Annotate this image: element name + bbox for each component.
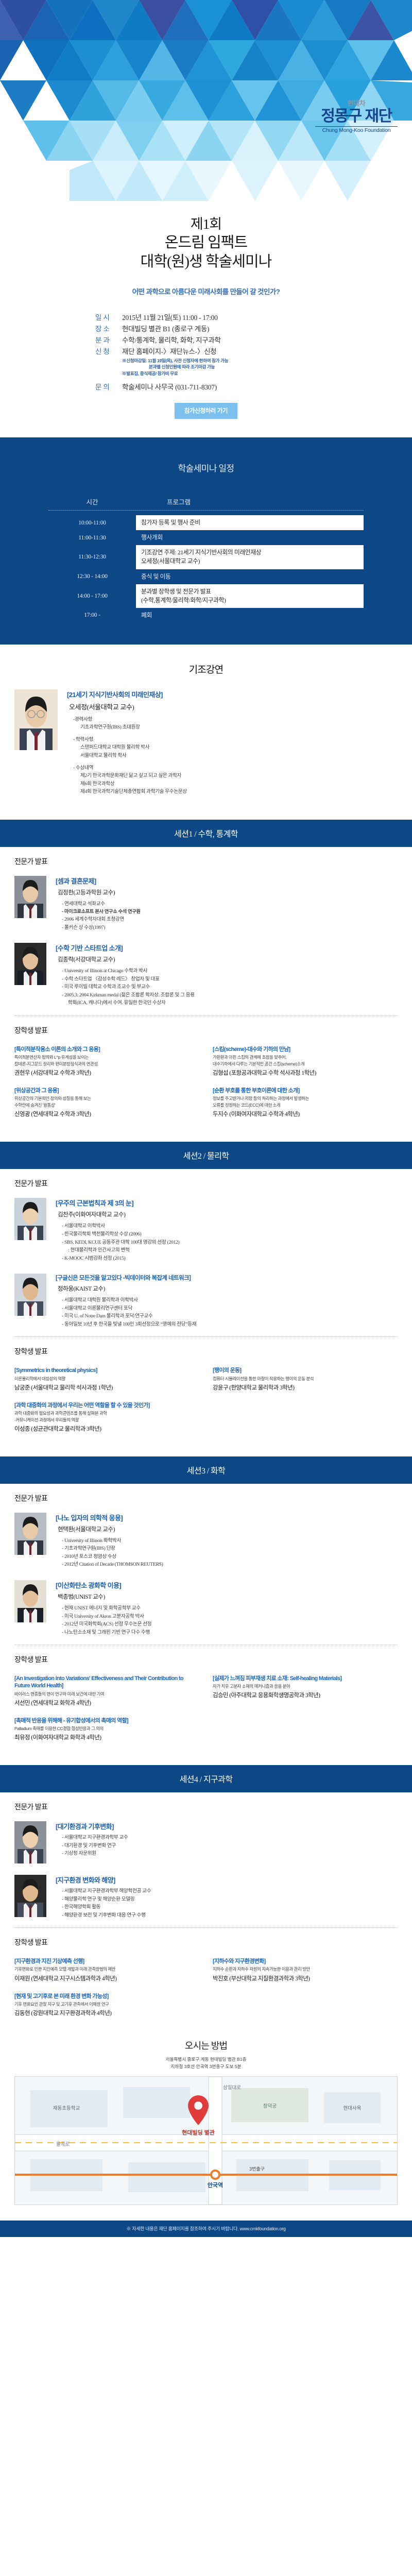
expert-speaker-photo (14, 1875, 46, 1917)
keynote-bio-heading: - 수상내역 (73, 764, 398, 772)
title-line-2: 온드림 임팩트 (0, 233, 412, 252)
expert-topic: [지구환경 변화와 해양] (56, 1875, 398, 1885)
expert-speaker-photo (14, 1580, 46, 1622)
expert-speaker-name: 백종범(UNIST 교수) (56, 1592, 398, 1601)
schedule-program: 폐회 (136, 608, 364, 623)
talk-card (213, 1717, 398, 1741)
portrait-placeholder-icon (14, 1198, 46, 1240)
expert-bio-item: - 나노탄소소재 및 그래핀 기반 연구 다수 수행 (62, 1629, 398, 1637)
talk-row: [특이적분작용소 이론의 소개와 그 응용]특이적분연산자 정의와 L^p 유계… (14, 1046, 398, 1077)
expert-speaker-photo (14, 1513, 46, 1555)
info-label-date: 일시 (95, 312, 122, 322)
schedule-row: 11:00-11:30행사개회 (48, 530, 364, 545)
talk-card: [촉매적 반응을 위해해 - 유기합성에서의 촉매의 역할]Palladium … (14, 1717, 199, 1741)
expert-bio-item: - 2012년 미국화학회(ACS) 선정 우수논문 선정 (62, 1620, 398, 1629)
talk-author: 김형섭 (포항공과대학교 수학 석사과정 1학년) (213, 1069, 398, 1077)
foundation-logo: 현대차 정몽구 재단 Chung Mong-Koo Foundation (315, 98, 398, 133)
info-row-tracks: 분과 수학/통계학, 물리학, 화학, 지구과학 (95, 334, 317, 345)
talk-card: [실제가 느껴짐 피부재생 치료 소재: Self-healing Materi… (213, 1675, 398, 1707)
schedule-table-header: 시간 프로그램 (48, 497, 364, 506)
expert-speaker: [지구환경 변화와 해양]- 서울대학교 지구환경과학부 해양학전공 교수- 해… (0, 1875, 412, 1919)
schedule-time: 14:00 - 17:00 (48, 584, 136, 608)
info-value-venue: 현대빌딩 별관 B1 (종로구 계동) (122, 323, 209, 333)
talk-description: 가환환과 아핀 스킴의 관계에 초점을 맞추어,대수기하에서 다루는 기본적인 … (213, 1054, 398, 1067)
talk-title: [지하수와 지구환경변화] (213, 1958, 398, 1965)
talk-card: [순환 부호를 통한 부호이론에 대한 소개]정보를 주고받거나 저장 등의 처… (213, 1087, 398, 1118)
keynote-bio-item: 스탠퍼드대학교 대학원 물리학 박사 (73, 743, 398, 752)
keynote-bio-group: -경력사항기초과학연구원(IBS) 초대원장 (67, 716, 398, 732)
talk-description: 기후변화로 인한 지진예측 모델 개발과 미래 관측방법의 제안 (14, 1966, 199, 1973)
expert-bio-item: - 기상청 자문위원 (62, 1850, 398, 1858)
expert-bio-item: - 연세대학교 석좌교수 (62, 900, 398, 908)
talk-title: [지구환경과 지진 기상예측 선행] (14, 1958, 199, 1965)
expert-speaker-name: 김정한(고등과학원 교수) (56, 888, 398, 896)
location-map[interactable]: 현대빌딩 별관 안국역 3번출구 율곡로 삼일대로 재동초등학교 현대사옥 창덕… (14, 2076, 398, 2205)
talk-author: 서선민 (연세대학교 화학과 4학년) (14, 1699, 199, 1707)
session-banner: 세션4 / 지구과학 (0, 1765, 412, 1792)
expert-speaker-name: 현택환(서울대학교 교수) (56, 1525, 398, 1533)
keynote-speaker-photo (14, 689, 58, 750)
expert-bio-list: - 서울대학교 지구환경과학부 해양학전공 교수- 해양물리학 연구 및 해양순… (56, 1887, 398, 1919)
talk-card: [An Investigation into Variations' Effec… (14, 1675, 199, 1707)
expert-topic: [구글신은 모든것을 알고있다 -빅데이터와 복잡계 네트워크] (56, 1274, 398, 1282)
portrait-placeholder-icon (14, 1580, 46, 1622)
talk-description: 특이적분연산자 정의와 L^p 유계성을 보이는칼데론-지그문드 정리와 편미분… (14, 1054, 199, 1067)
student-talks: [An Investigation into Variations' Effec… (0, 1667, 412, 1755)
talk-title: [과학 대중화의 과정에서 우리는 어떤 역할을 할 수 있을 것인가] (14, 1402, 199, 1409)
talk-author: 신영광 (연세대학교 수학과 3학년) (14, 1110, 199, 1118)
expert-bio-item: - 서울대학교 지구환경과학부 교수 (62, 1834, 398, 1842)
talk-author: 남궁준 (서울대학교 물리학 석사과정 1학년) (14, 1383, 199, 1392)
expert-bio-item: - 해양환경 보전 및 기후변화 대응 연구 수행 (62, 1911, 398, 1920)
poster-page: 현대차 정몽구 재단 Chung Mong-Koo Foundation 제1회… (0, 0, 412, 2237)
schedule-program: 분과별 장학생 및 전문가 발표(수학,통계학/물리학/화학/지구과학) (136, 584, 364, 608)
keynote-speaker: [21세기 지식기반사회의 미래인재상] 오세정(서울대학교 교수) -경력사항… (0, 689, 412, 796)
schedule-time: 11:30-12:30 (48, 545, 136, 569)
keynote-heading: 기조강연 (0, 662, 412, 676)
keynote-bio-item: 제6회 한국과학상 (73, 780, 398, 788)
expert-bio-item: - 미국 루이빌 대학교 수학과 조교수 및 부교수 (62, 983, 398, 991)
info-value-contact: 학술세미나 사무국 (031-711-8307) (122, 381, 217, 392)
schedule-time: 10:00-11:00 (48, 515, 136, 530)
expert-bio-item: - 대기환경 및 기후변화 연구 (62, 1842, 398, 1850)
portrait-placeholder-icon (14, 1875, 46, 1917)
talk-title: [순환 부호를 통한 부호이론에 대한 소개] (213, 1087, 398, 1094)
talk-title: [Symmetrics in theoretical physics] (14, 1367, 199, 1374)
map-label-place3: 창덕궁 (263, 2104, 277, 2109)
page-title: 제1회 온드림 임팩트 대학(원)생 학술세미나 (0, 206, 412, 272)
talk-card (213, 1402, 398, 1433)
expert-bio-item: - 폴커슨 상 수상(1997) (62, 924, 398, 932)
logo-main-text: 정몽구 재단 (315, 108, 398, 126)
keynote-bio-item: 제2기 한국과학문화재단 닮고 싶고 되고 싶은 과학자 (73, 772, 398, 780)
talk-card: [과학 대중화의 과정에서 우리는 어떤 역할을 할 수 있을 것인가]과학 대… (14, 1402, 199, 1433)
map-label-station: 안국역 (208, 2181, 223, 2189)
note-capacity: 분과별 신청인원에 따라 조기마감 가능 (122, 364, 317, 370)
talk-card: [지구환경과 지진 기상예측 선행]기후변화로 인한 지진예측 모델 개발과 미… (14, 1958, 199, 1982)
schedule-row: 10:00-11:00참가자 등록 및 행사 준비 (48, 515, 364, 530)
talk-card: [팽이의 운동]컴퓨터 시뮬레이션을 통한 마찰이 작용하는 팽이의 운동 분석… (213, 1367, 398, 1391)
map-label-road2: 삼일대로 (223, 2085, 241, 2091)
talk-row: [Symmetrics in theoretical physics]이론물리학… (14, 1367, 398, 1391)
talk-author: 김동현 (강원대학교 지구환경과학과 4학년) (14, 2009, 199, 2017)
map-heading: 오시는 방법 (0, 2039, 412, 2052)
expert-speaker-photo (14, 1198, 46, 1240)
student-presentation-label: 장학생 발표 (0, 1016, 412, 1038)
expert-topic: [대기환경과 기후변화] (56, 1821, 398, 1831)
student-talks: [Symmetrics in theoretical physics]이론물리학… (0, 1359, 412, 1446)
talk-row: [촉매적 반응을 위해해 - 유기합성에서의 촉매의 역할]Palladium … (14, 1717, 398, 1741)
info-label-contact: 문의 (95, 381, 122, 392)
session-block: 세션2 / 물리학전문가 발표[우주의 근본법칙과 제 3의 눈]김찬주(이화여… (0, 1142, 412, 1446)
schedule-time: 12:30 - 14:00 (48, 569, 136, 584)
logo-sub-text: Chung Mong-Koo Foundation (315, 126, 398, 133)
talk-description: 지하수 순환과 지하수 자원의 지속가능한 이용과 관리 방안 (213, 1966, 398, 1973)
info-label-venue: 장소 (95, 323, 122, 333)
expert-speaker-photo (14, 1821, 46, 1863)
hero-banner: 현대차 정몽구 재단 Chung Mong-Koo Foundation (0, 0, 412, 206)
expert-bio-item: - 수학 스타트업 〈감성수학 레드〉 창업자 및 대표 (62, 975, 398, 984)
talk-description: 정보를 주고받거나 저장 등의 처리하는 과정에서 발생하는오류를 정정하는 코… (213, 1095, 398, 1109)
expert-speaker: [이산화탄소 광화학 이용]백종범(UNIST 교수)- 현재 UNIST 에너… (0, 1580, 412, 1636)
logo-top-text: 현대차 (315, 98, 398, 108)
talk-title: [팽이의 운동] (213, 1367, 398, 1374)
schedule-panel: 학술세미나 일정 시간 프로그램 10:00-11:00참가자 등록 및 행사 … (0, 437, 412, 645)
expert-speaker-photo (14, 1274, 46, 1316)
expert-bio-item: - 동아일보 10년 후 한국을 빛낼 100인 3회선정으로 “명예의 전당”… (62, 1320, 398, 1329)
portrait-placeholder-icon (14, 1821, 46, 1863)
student-presentation-label: 장학생 발표 (0, 1337, 412, 1359)
map-address-line-2: 지하철 3호선 안국역 3번출구 도보 5분 (0, 2063, 412, 2071)
talk-author: 김승민 (아주대학교 응용화학생명공학과 3학년) (213, 1691, 398, 1699)
session-banner: 세션1 / 수학, 통계학 (0, 820, 412, 847)
expert-bio-item: - 2006 세계수학자대회 초청강연 (62, 916, 398, 924)
talk-title: [스킴(scheme)-대수와 기하의 만남] (213, 1046, 398, 1053)
expert-bio-item: - University of Illinois 화학박사 (62, 1537, 398, 1545)
talk-row: [과학 대중화의 과정에서 우리는 어떤 역할을 할 수 있을 것인가]과학 대… (14, 1402, 398, 1433)
keynote-bio-group: - 수상내역제2기 한국과학문화재단 닮고 싶고 되고 싶은 과학자제6회 한국… (67, 764, 398, 796)
expert-bio-item: : 현대물리학과 인간사고의 변혁 (62, 1246, 398, 1255)
talk-row: [현재 및 고기후로 본 미래 환경 변화 가능성]기후 변화요인 관찰 지구 … (14, 1993, 398, 2017)
keynote-bio-item: 기초과학연구원(IBS) 초대원장 (73, 723, 398, 732)
keynote-section: 기조강연 [21세기 지식기반사회의 미래인재상] 오세정(서울대학교 교수) (0, 645, 412, 809)
expert-bio-item: - K-MOOC 시범강좌 선정 (2015) (62, 1255, 398, 1263)
talk-author: 두지수 (이화여자대학교 수학과 4학년) (213, 1110, 398, 1118)
keynote-bio-item: 제4회 한국과학기술단체총연합회 과학기술 우수논문상 (73, 788, 398, 796)
event-info-list: 일시 2015년 11월 21일(토) 11:00 - 17:00 장소 현대빌… (95, 312, 317, 392)
expert-speaker-photo (14, 943, 46, 985)
expert-speaker: [나노 입자의 의학적 응용]현택환(서울대학교 교수)- University… (0, 1513, 412, 1569)
talk-card: [Symmetrics in theoretical physics]이론물리학… (14, 1367, 199, 1391)
note-free: ※발표집, 중식제공/ 참가비 무료 (122, 370, 317, 377)
expert-speaker-name: 김찬주(이화여자대학교 교수) (56, 1210, 398, 1218)
portrait-placeholder-icon (14, 876, 46, 918)
talk-title: [위상공간과 그 응용] (14, 1087, 199, 1094)
expert-presentation-label: 전문가 발표 (0, 1484, 412, 1505)
talk-author: 이재원 (연세대학교 지구시스템과학과 4학년) (14, 1974, 199, 1982)
talk-row: [위상공간과 그 응용]위상공간의 기본적인 정의와 성질을 통해 보는수학안에… (14, 1087, 398, 1118)
info-row-apply: 신청 재단 홈페이지-〉재단뉴스-〉신청 (95, 346, 317, 356)
map-label-venue: 현대빌딩 별관 (182, 2129, 215, 2136)
talk-title: [특이적분작용소 이론의 소개와 그 응용] (14, 1046, 199, 1053)
expert-bio-item: - 미국 University of Akron 고분자공학 박사 (62, 1613, 398, 1621)
talk-description: 위상공간의 기본적인 정의와 성질을 통해 보는수학안에 숨겨진 '융통성' (14, 1095, 199, 1109)
info-value-date: 2015년 11월 21일(토) 11:00 - 17:00 (122, 312, 218, 322)
page-footer: ※ 자세한 내용은 재단 홈페이지를 참조하여 주시기 바랍니다. www.cm… (0, 2221, 412, 2237)
talk-author: 강윤구 (한양대학교 물리학과 3학년) (213, 1383, 398, 1392)
info-label-apply: 신청 (95, 346, 122, 356)
map-address-line-1: 서울특별시 종로구 계동 현대빌딩 별관 B1층 (0, 2056, 412, 2063)
title-line-3: 대학(원)생 학술세미나 (0, 252, 412, 272)
expert-bio-item: - 서울대학교 이학박사 (62, 1222, 398, 1230)
schedule-time: 11:00-11:30 (48, 530, 136, 545)
session-banner: 세션3 / 화학 (0, 1456, 412, 1484)
expert-bio-item: - 한국해양학회 활동 (62, 1903, 398, 1911)
expert-bio-item: - 해양물리학 연구 및 해양순환 모델링 (62, 1895, 398, 1904)
info-row-contact: 문의 학술세미나 사무국 (031-711-8307) (95, 381, 317, 392)
expert-presentation-label: 전문가 발표 (0, 1169, 412, 1191)
expert-bio-list: - University of Illinois 화학박사- 기초과학연구원(I… (56, 1537, 398, 1569)
expert-bio-item: - 미국 U. of Notre Dam 물리학과 포닥/연구교수 (62, 1312, 398, 1320)
schedule-row: 14:00 - 17:00분과별 장학생 및 전문가 발표(수학,통계학/물리학… (48, 584, 364, 608)
map-label-place2: 현대사옥 (344, 2106, 362, 2111)
portrait-placeholder-icon (14, 1274, 46, 1316)
talk-card (213, 1993, 398, 2017)
expert-presentation-label: 전문가 발표 (0, 847, 412, 869)
map-label-place1: 재동초등학교 (53, 2106, 80, 2111)
talk-description: 컴퓨터 시뮬레이션을 통한 마찰이 작용하는 팽이의 운동 분석 (213, 1376, 398, 1382)
portrait-placeholder-icon (14, 1513, 46, 1555)
expert-speaker: [셈과 결혼문제]김정한(고등과학원 교수)- 연세대학교 석좌교수- 마이크로… (0, 876, 412, 932)
talk-card: [스킴(scheme)-대수와 기하의 만남]가환환과 아핀 스킴의 관계에 초… (213, 1046, 398, 1077)
expert-speaker-name: 김종락(서강대학교 교수) (56, 955, 398, 963)
talk-title: [An Investigation into Variations' Effec… (14, 1675, 199, 1690)
talk-title: [실제가 느껴짐 피부재생 치료 소재: Self-healing Materi… (213, 1675, 398, 1682)
talk-title: [촉매적 반응을 위해해 - 유기합성에서의 촉매의 역할] (14, 1717, 199, 1724)
expert-bio-list: - 현재 UNIST 에너지 및 화학공학부 교수- 미국 University… (56, 1604, 398, 1636)
expert-speaker: [수학 기반 스타트업 소개]김종락(서강대학교 교수)- University… (0, 943, 412, 1007)
title-line-1: 제1회 (0, 215, 412, 233)
map-subtext: 서울특별시 종로구 계동 현대빌딩 별관 B1층 지하철 3호선 안국역 3번출… (0, 2056, 412, 2071)
talk-description: 과학 대중화의 필요성과 과학콘텐츠를 통해 살펴본 과학-커뮤니케이션 과정에… (14, 1410, 199, 1423)
expert-bio-item: - 마이크로소프트 본사 연구소 수석 연구원 (62, 908, 398, 916)
expert-bio-item: - 서울대학교 대학원 물리학과 이학박사 (62, 1296, 398, 1304)
keynote-bio-item: 서울대학교 물리학 학사 (73, 752, 398, 760)
keynote-bio-heading: - 학력사항 (73, 736, 398, 744)
info-row-venue: 장소 현대빌딩 별관 B1 (종로구 계동) (95, 323, 317, 333)
info-label-tracks: 분과 (95, 334, 122, 345)
expert-bio-item: - 기초과학연구원(IBS) 단장 (62, 1545, 398, 1553)
expert-presentation-label: 전문가 발표 (0, 1792, 412, 1814)
talk-author: 이성종 (성균관대학교 물리학과 3학년) (14, 1425, 199, 1433)
expert-bio-item: - 2005.3: 2004 Kirkman medal (젊은 조합론 학자상… (62, 991, 398, 999)
talk-card: [위상공간과 그 응용]위상공간의 기본적인 정의와 성질을 통해 보는수학안에… (14, 1087, 199, 1118)
application-notes: ※신청마감일: 11월 19일(목), 사전 신청자에 한하여 참가 가능 분과… (122, 358, 317, 377)
expert-speaker-photo (14, 876, 46, 918)
expert-bio-item: - 2010년 포스코 청암상 수상 (62, 1553, 398, 1561)
student-presentation-label: 장학생 발표 (0, 1928, 412, 1950)
talk-description: 자가 치유 고분자 소재의 메커니즘과 응용 분야 (213, 1683, 398, 1690)
portrait-placeholder-icon (14, 943, 46, 985)
expert-bio-item: - 2012년 Citation of Decade (THOMSON REUT… (62, 1561, 398, 1569)
session-block: 세션3 / 화학전문가 발표[나노 입자의 의학적 응용]현택환(서울대학교 교… (0, 1456, 412, 1755)
talk-title: [현재 및 고기후로 본 미래 환경 변화 가능성] (14, 1993, 199, 2000)
expert-bio-item: - SBS, KEDI, KCUE 공동주관 대학 100대 명강의 선정 (2… (62, 1239, 398, 1247)
keynote-bio-heading: -경력사항 (73, 716, 398, 724)
expert-topic: [나노 입자의 의학적 응용] (56, 1513, 398, 1522)
info-row-date: 일시 2015년 11월 21일(토) 11:00 - 17:00 (95, 312, 317, 322)
schedule-divider (48, 510, 364, 511)
schedule-row: 12:30 - 14:00중식 및 이동 (48, 569, 364, 584)
session-block: 세션4 / 지구과학전문가 발표[대기환경과 기후변화]- 서울대학교 지구환경… (0, 1765, 412, 2030)
expert-bio-item: 학회(ICA, 캐나다)에서 수여. 유일한 한국인 수상자 (62, 999, 398, 1007)
expert-topic: [수학 기반 스타트업 소개] (56, 943, 398, 953)
expert-topic: [우주의 근본법칙과 제 3의 눈] (56, 1198, 398, 1208)
directions-section: 오시는 방법 서울특별시 종로구 계동 현대빌딩 별관 B1층 지하철 3호선 … (0, 2039, 412, 2221)
talk-card: [특이적분작용소 이론의 소개와 그 응용]특이적분연산자 정의와 L^p 유계… (14, 1046, 199, 1077)
keynote-bio-group: - 학력사항스탠퍼드대학교 대학원 물리학 박사서울대학교 물리학 학사 (67, 736, 398, 760)
schedule-row: 11:30-12:30기조강연 주제: 21세기 지식기반사회의 미래인재상오세… (48, 545, 364, 569)
talk-card: [현재 및 고기후로 본 미래 환경 변화 가능성]기후 변화요인 관찰 지구 … (14, 1993, 199, 2017)
expert-bio-item: - University of Illinois at Chicago 수학과 … (62, 967, 398, 975)
schedule-rows: 10:00-11:00참가자 등록 및 행사 준비11:00-11:30행사개회… (0, 515, 412, 623)
keynote-topic: [21세기 지식기반사회의 미래인재상] (67, 689, 398, 699)
expert-bio-list: - 서울대학교 지구환경과학부 교수- 대기환경 및 기후변화 연구- 기상청 … (56, 1834, 398, 1858)
schedule-program: 기조강연 주제: 21세기 지식기반사회의 미래인재상오세정(서울대학교 교수) (136, 545, 364, 569)
talk-description: 기후 변화요인 관찰 지구 및 고기후 관측에서 이해한 연구 (14, 2001, 199, 2008)
keynote-speaker-name: 오세정(서울대학교 교수) (67, 702, 398, 711)
schedule-program: 중식 및 이동 (136, 569, 364, 584)
schedule-col-program: 프로그램 (136, 497, 364, 506)
expert-bio-item: - 한국물리학회 백천물리학상 수상 (2006) (62, 1230, 398, 1239)
note-deadline: ※신청마감일: 11월 19일(목), 사전 신청자에 한하여 참가 가능 (122, 358, 317, 364)
sessions-container: 세션1 / 수학, 통계학전문가 발표[셈과 결혼문제]김정한(고등과학원 교수… (0, 820, 412, 2030)
student-presentation-label: 장학생 발표 (0, 1645, 412, 1667)
expert-topic: [셈과 결혼문제] (56, 876, 398, 886)
talk-row: [An Investigation into Variations' Effec… (14, 1675, 398, 1707)
talk-card: [지하수와 지구환경변화]지하수 순환과 지하수 자원의 지속가능한 이용과 관… (213, 1958, 398, 1982)
schedule-program: 행사개회 (136, 530, 364, 545)
expert-bio-list: - 서울대학교 이학박사- 한국물리학회 백천물리학상 수상 (2006)- S… (56, 1222, 398, 1262)
schedule-row: 17:00 -폐회 (48, 608, 364, 623)
talk-author: 권현우 (서강대학교 수학과 3학년) (14, 1069, 199, 1077)
keynote-bio-blocks: -경력사항기초과학연구원(IBS) 초대원장- 학력사항스탠퍼드대학교 대학원 … (67, 716, 398, 796)
expert-bio-item: - 서울대학교 이론물리연구센터 포닥 (62, 1304, 398, 1313)
expert-bio-item: - 현재 UNIST 에너지 및 화학공학부 교수 (62, 1604, 398, 1613)
talk-row: [지구환경과 지진 기상예측 선행]기후변화로 인한 지진예측 모델 개발과 미… (14, 1958, 398, 1982)
map-label-exit: 3번출구 (249, 2166, 265, 2172)
talk-author: 박진호 (부산대학교 지질환경과학과 3학년) (213, 1974, 398, 1982)
session-banner: 세션2 / 물리학 (0, 1142, 412, 1169)
student-talks: [지구환경과 지진 기상예측 선행]기후변화로 인한 지진예측 모델 개발과 미… (0, 1950, 412, 2030)
schedule-heading: 학술세미나 일정 (0, 461, 412, 474)
map-graphic: 현대빌딩 별관 안국역 3번출구 율곡로 삼일대로 재동초등학교 현대사옥 창덕… (15, 2077, 398, 2205)
info-value-apply: 재단 홈페이지-〉재단뉴스-〉신청 (122, 346, 216, 356)
map-label-road1: 율곡로 (56, 2142, 70, 2147)
talk-description: Palladium 촉매를 이용한 CC결합 형성반응과 그 의의 (14, 1725, 199, 1732)
expert-speaker-name: 정하웅(KAIST 교수) (56, 1284, 398, 1293)
expert-bio-item: - 서울대학교 지구환경과학부 해양학전공 교수 (62, 1887, 398, 1895)
schedule-col-time: 시간 (48, 497, 136, 506)
student-talks: [특이적분작용소 이론의 소개와 그 응용]특이적분연산자 정의와 L^p 유계… (0, 1038, 412, 1132)
talk-description: 바이러스 변종들의 변이 연구와 미래 보건에 대한 기여 (14, 1691, 199, 1698)
expert-bio-list: - 연세대학교 석좌교수- 마이크로소프트 본사 연구소 수석 연구원- 200… (56, 900, 398, 932)
portrait-placeholder-icon (14, 689, 58, 750)
expert-speaker: [우주의 근본법칙과 제 3의 눈]김찬주(이화여자대학교 교수)- 서울대학교… (0, 1198, 412, 1262)
expert-bio-list: - University of Illinois at Chicago 수학과 … (56, 967, 398, 1007)
expert-speaker: [대기환경과 기후변화]- 서울대학교 지구환경과학부 교수- 대기환경 및 기… (0, 1821, 412, 1863)
apply-button[interactable]: 참가신청하러 가기 (175, 403, 237, 419)
expert-topic: [이산화탄소 광화학 이용] (56, 1580, 398, 1590)
info-value-tracks: 수학/통계학, 물리학, 화학, 지구과학 (122, 334, 221, 345)
expert-bio-list: - 서울대학교 대학원 물리학과 이학박사- 서울대학교 이론물리연구센터 포닥… (56, 1296, 398, 1328)
page-subtitle: 어떤 과학으로 아름다운 미래사회를 만들어 갈 것인가? (0, 286, 412, 296)
talk-author: 최유정 (이화여자대학교 화학과 4학년) (14, 1733, 199, 1741)
talk-description: 이론물리학에서 대칭성의 역할 (14, 1376, 199, 1382)
schedule-time: 17:00 - (48, 608, 136, 623)
schedule-program: 참가자 등록 및 행사 준비 (136, 515, 364, 530)
session-block: 세션1 / 수학, 통계학전문가 발표[셈과 결혼문제]김정한(고등과학원 교수… (0, 820, 412, 1132)
expert-speaker: [구글신은 모든것을 알고있다 -빅데이터와 복잡계 네트워크]정하웅(KAIS… (0, 1274, 412, 1328)
